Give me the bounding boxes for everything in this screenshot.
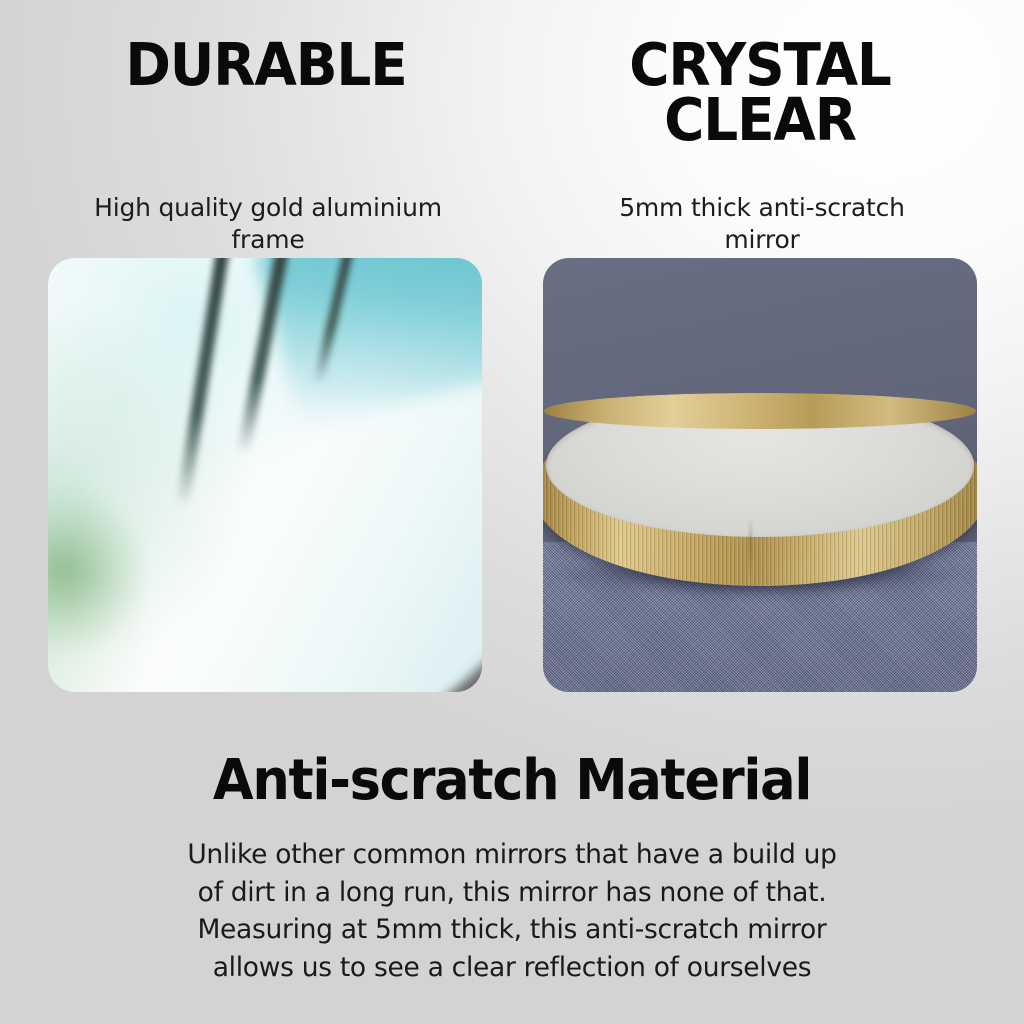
feature-image-card-crystal-clear bbox=[543, 258, 977, 692]
feature-caption-durable: High quality gold aluminium frame bbox=[42, 192, 494, 255]
feature-caption-crystal-clear: 5mm thick anti-scratch mirror bbox=[536, 192, 988, 255]
gold-frame-closeup-photo bbox=[48, 258, 482, 692]
product-feature-panel: DURABLE CRYSTAL CLEAR High quality gold … bbox=[0, 0, 1024, 1024]
headings-row: DURABLE CRYSTAL CLEAR bbox=[0, 0, 1024, 180]
feature-heading-crystal-clear: CRYSTAL CLEAR bbox=[544, 38, 976, 148]
brushed-metal-texture bbox=[48, 258, 482, 692]
bottom-section-body: Unlike other common mirrors that have a … bbox=[92, 836, 932, 987]
bottom-section-title: Anti-scratch Material bbox=[89, 752, 935, 809]
gold-rim-highlight bbox=[544, 393, 976, 429]
frame-seam bbox=[749, 518, 752, 574]
feature-image-card-durable bbox=[48, 258, 482, 692]
round-mirror-on-fabric-photo bbox=[543, 258, 977, 692]
feature-heading-durable: DURABLE bbox=[50, 38, 482, 93]
